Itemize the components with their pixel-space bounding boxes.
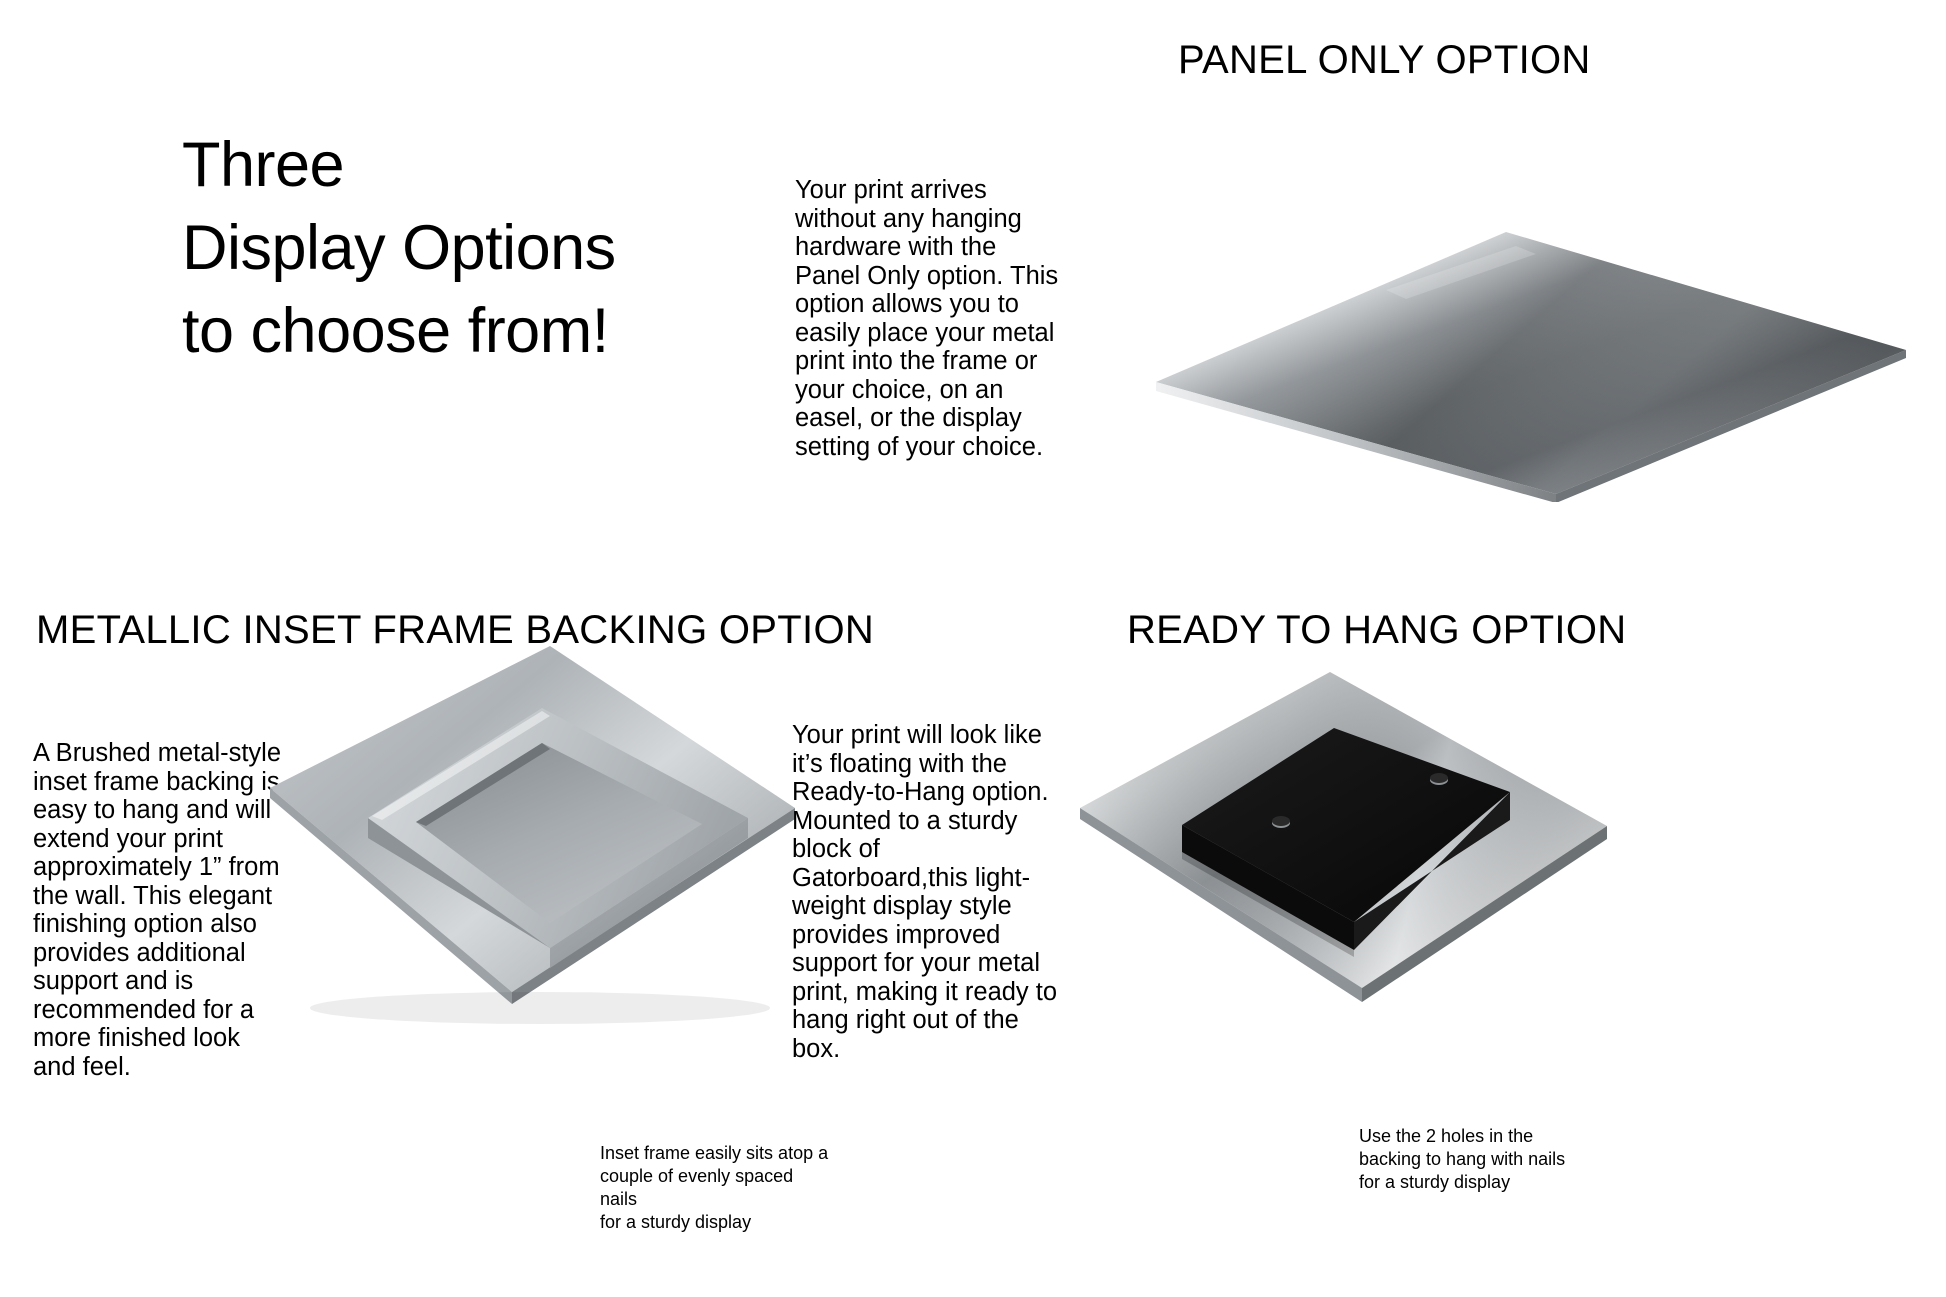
inset-frame-shadow: [310, 992, 770, 1024]
section-body-inset-frame: A Brushed metal-style inset frame backin…: [33, 739, 283, 1082]
hanging-hole-upper: [1430, 773, 1448, 785]
panel-sheen: [1156, 232, 1906, 494]
section-heading-panel-only: PANEL ONLY OPTION: [1178, 38, 1591, 83]
inset-frame-illustration: [250, 612, 810, 1112]
caption-ready-to-hang: Use the 2 holes in the backing to hang w…: [1359, 1125, 1589, 1194]
ready-to-hang-illustration: [1062, 620, 1622, 1120]
section-body-panel-only: Your print arrives without any hanging h…: [795, 176, 1063, 461]
page-title: Three Display Options to choose from!: [182, 124, 802, 373]
hanging-hole-lower: [1272, 816, 1290, 828]
metal-print-with-inset-frame-backing-image: [250, 612, 810, 1112]
bare-metal-print-panel-image: [1086, 172, 1926, 502]
caption-inset-frame: Inset frame easily sits atop a couple of…: [600, 1142, 830, 1234]
section-body-ready-to-hang: Your print will look like it’s floating …: [792, 721, 1058, 1064]
metal-panel-illustration: [1086, 172, 1926, 502]
metal-print-with-gatorboard-block-image: [1062, 620, 1622, 1120]
